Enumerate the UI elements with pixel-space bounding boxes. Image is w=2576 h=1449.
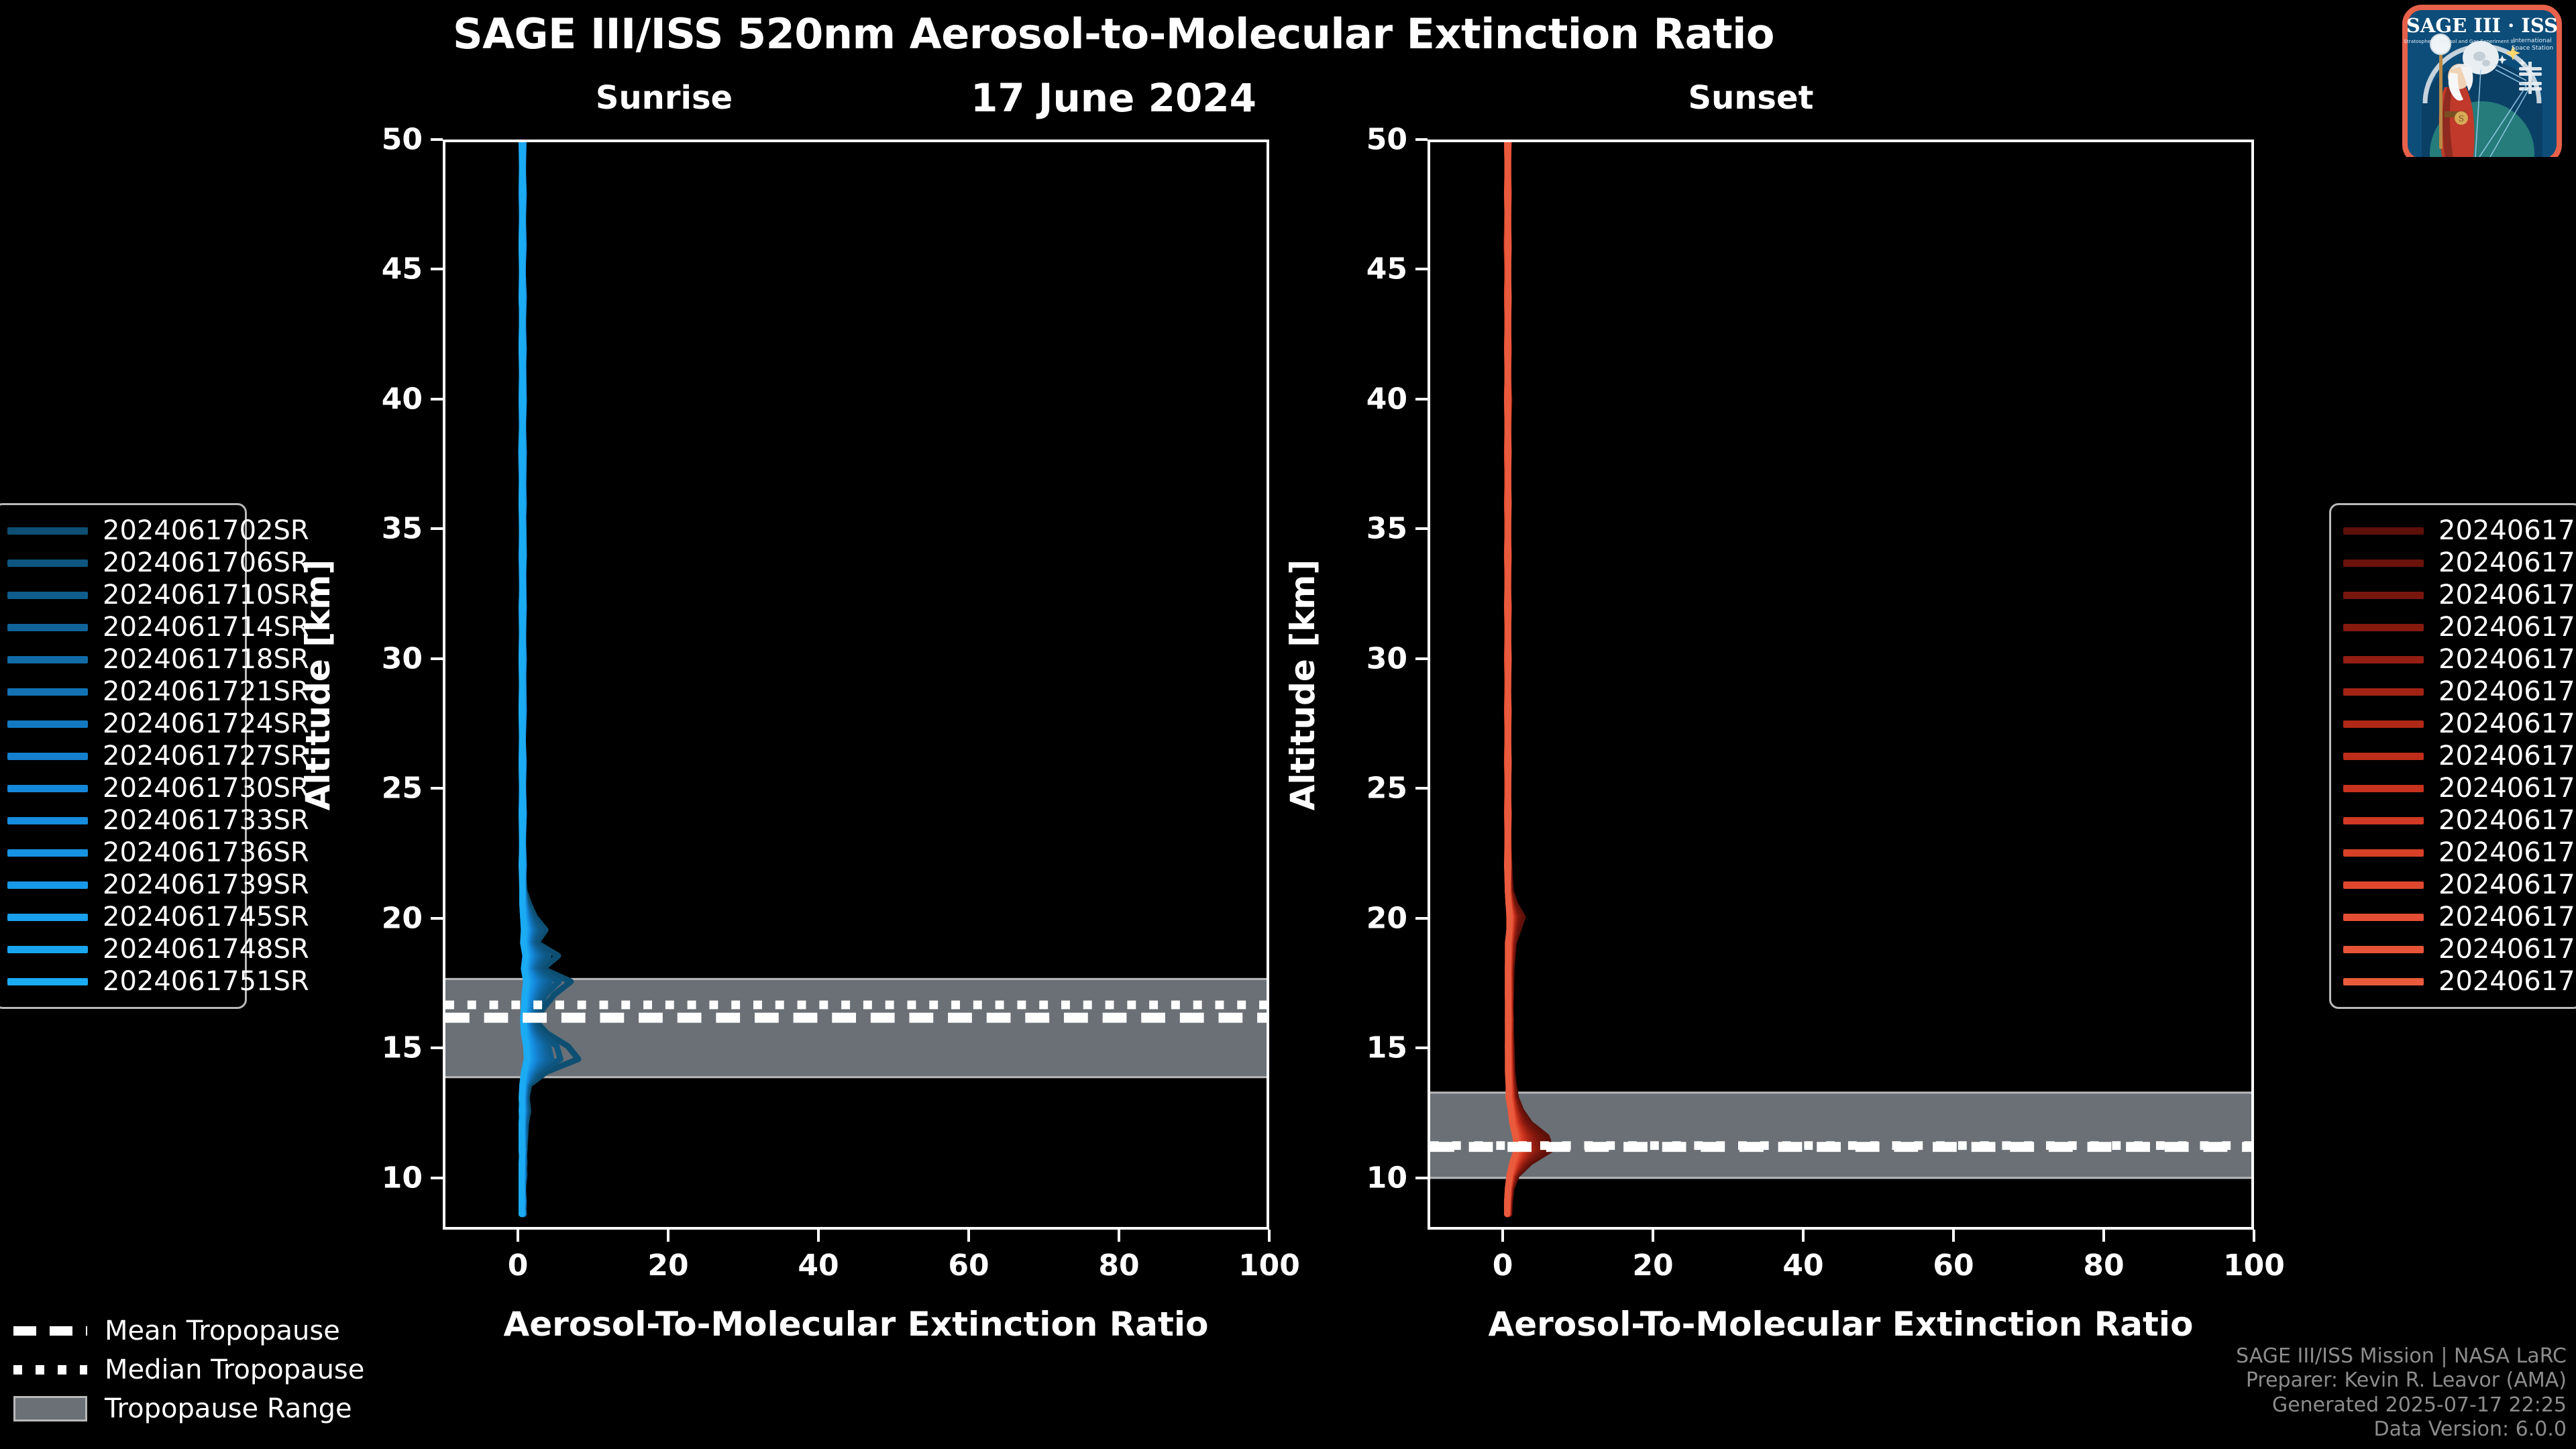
- patch-title: SAGE III · ISS: [2406, 14, 2558, 37]
- y-axis-tick-label: 35: [1327, 512, 1407, 546]
- y-axis-tick-label: 10: [342, 1161, 423, 1195]
- x-axis-tick-mark: [1501, 1230, 1504, 1242]
- credits-block: SAGE III/ISS Mission | NASA LaRC Prepare…: [2236, 1344, 2567, 1442]
- sunset-panel-title: Sunset: [1529, 79, 1972, 117]
- legend-item-label: 2024061716SS: [2438, 612, 2576, 643]
- x-axis-title: Aerosol-To-Molecular Extinction Ratio: [443, 1305, 1269, 1344]
- y-axis-tick-label: 30: [1327, 641, 1407, 676]
- x-axis-tick-label: 80: [2083, 1248, 2124, 1283]
- y-axis-tick-mark: [1415, 527, 1428, 530]
- y-axis-tick-label: 10: [1327, 1161, 1407, 1195]
- y-axis-tick-label: 15: [342, 1031, 423, 1065]
- legend-color-swatch: [2343, 559, 2424, 567]
- y-axis-tick-mark: [1415, 1046, 1428, 1049]
- x-axis-tick-label: 0: [508, 1248, 529, 1283]
- legend-item-label: 2024061751SR: [103, 966, 309, 997]
- legend-item[interactable]: 2024061732SS: [2343, 772, 2569, 804]
- x-axis-tick-mark: [1952, 1230, 1955, 1242]
- x-axis-tick-label: 80: [1098, 1248, 1139, 1283]
- y-axis-tick-mark: [431, 527, 443, 530]
- credits-line-version: Data Version: 6.0.0: [2236, 1417, 2567, 1442]
- legend-item[interactable]: 2024061750SS: [2343, 965, 2569, 998]
- legend-item[interactable]: 2024061733SR: [7, 804, 233, 837]
- legend-color-swatch: [2343, 753, 2424, 760]
- tropopause-range-band: [1430, 1093, 2251, 1178]
- legend-item[interactable]: 2024061730SR: [7, 772, 233, 804]
- legend-color-swatch: [2343, 978, 2424, 985]
- legend-item[interactable]: 2024061706SR: [7, 547, 233, 579]
- x-axis-tick-label: 20: [1632, 1248, 1673, 1283]
- y-axis-tick-mark: [1415, 657, 1428, 660]
- legend-item-label: 2024061736SR: [103, 837, 309, 868]
- sunrise-plot-canvas: [445, 142, 1267, 1227]
- y-axis-tick-mark: [1415, 787, 1428, 790]
- y-axis-tick-mark: [1415, 268, 1428, 270]
- sunrise-legend: 2024061702SR2024061706SR2024061710SR2024…: [0, 503, 247, 1009]
- x-axis-tick-label: 0: [1493, 1248, 1513, 1283]
- legend-item-label: 2024061726SS: [2438, 708, 2576, 739]
- y-axis-tick-mark: [1415, 398, 1428, 400]
- legend-color-swatch: [7, 881, 88, 889]
- legend-color-swatch: [2343, 688, 2424, 696]
- legend-color-swatch: [7, 914, 88, 921]
- tropopause-legend: Mean Tropopause Median Tropopause Tropop…: [13, 1311, 376, 1428]
- legend-item[interactable]: 2024061702SR: [7, 515, 233, 547]
- legend-color-swatch: [2343, 946, 2424, 953]
- legend-item-label: 2024061747SS: [2438, 934, 2576, 965]
- patch-subtitle-left: Stratospheric Aerosol and Gas Experiment…: [2404, 38, 2515, 44]
- legend-item-label: 2024061708SS: [2438, 547, 2576, 578]
- legend-item-label: 2024061727SR: [103, 741, 309, 771]
- legend-item[interactable]: 2024061729SS: [2343, 740, 2569, 772]
- y-axis-tick-mark: [431, 657, 443, 660]
- y-axis-tick-mark: [431, 268, 443, 270]
- legend-color-swatch: [7, 527, 88, 535]
- x-axis-tick-mark: [2253, 1230, 2255, 1242]
- legend-item-label: 2024061730SR: [103, 773, 309, 804]
- y-axis-tick-mark: [1415, 1177, 1428, 1179]
- x-axis-tick-mark: [517, 1230, 519, 1242]
- x-axis-tick-mark: [2102, 1230, 2105, 1242]
- legend-color-swatch: [2343, 785, 2424, 792]
- page-title: SAGE III/ISS 520nm Aerosol-to-Molecular …: [0, 9, 2227, 58]
- legend-item-label: 2024061704SS: [2438, 515, 2576, 546]
- legend-item-label: 2024061729SS: [2438, 741, 2576, 771]
- legend-item[interactable]: 2024061708SS: [2343, 547, 2569, 579]
- y-axis-tick-mark: [431, 398, 443, 400]
- legend-item[interactable]: 2024061726SS: [2343, 708, 2569, 740]
- y-axis-tick-mark: [431, 917, 443, 920]
- legend-item[interactable]: 2024061739SR: [7, 869, 233, 901]
- sunset-plot-area: [1428, 140, 2254, 1230]
- legend-item[interactable]: 2024061716SS: [2343, 611, 2569, 643]
- sunset-plot-canvas: [1430, 142, 2251, 1227]
- legend-item-label: 2024061723SS: [2438, 676, 2576, 707]
- y-axis-tick-label: 20: [1327, 901, 1407, 935]
- legend-item[interactable]: 2024061744SS: [2343, 901, 2569, 933]
- legend-color-swatch: [7, 624, 88, 631]
- legend-item[interactable]: 2024061747SS: [2343, 933, 2569, 965]
- legend-item-label: 2024061741SS: [2438, 869, 2576, 900]
- x-axis-tick-mark: [1268, 1230, 1271, 1242]
- legend-item[interactable]: 2024061721SR: [7, 676, 233, 708]
- tropopause-mean-key: Mean Tropopause: [13, 1311, 376, 1350]
- legend-item-label: 2024061738SS: [2438, 837, 2576, 868]
- y-axis-tick-mark: [431, 138, 443, 141]
- legend-item[interactable]: 2024061745SR: [7, 901, 233, 933]
- legend-item[interactable]: 2024061727SR: [7, 740, 233, 772]
- legend-item[interactable]: 2024061712SS: [2343, 579, 2569, 611]
- legend-item-label: 2024061706SR: [103, 547, 309, 578]
- tropopause-range-label: Tropopause Range: [105, 1393, 352, 1424]
- x-axis-tick-mark: [1118, 1230, 1120, 1242]
- tropopause-median-label: Median Tropopause: [105, 1354, 364, 1385]
- legend-item-label: 2024061748SR: [103, 934, 309, 965]
- x-axis-tick-label: 40: [1782, 1248, 1823, 1283]
- x-axis-tick-mark: [817, 1230, 820, 1242]
- legend-item-label: 2024061714SR: [103, 612, 309, 643]
- legend-color-swatch: [2343, 881, 2424, 889]
- legend-color-swatch: [7, 978, 88, 985]
- legend-item[interactable]: 2024061714SR: [7, 611, 233, 643]
- y-axis-tick-label: 45: [1327, 252, 1407, 286]
- y-axis-tick-label: 40: [342, 382, 423, 416]
- legend-item[interactable]: 2024061735SS: [2343, 804, 2569, 837]
- legend-item[interactable]: 2024061736SR: [7, 837, 233, 869]
- legend-item-label: 2024061702SR: [103, 515, 309, 546]
- y-axis-tick-label: 25: [1327, 771, 1407, 806]
- legend-color-swatch: [7, 559, 88, 567]
- credits-line-mission: SAGE III/ISS Mission | NASA LaRC: [2236, 1344, 2567, 1369]
- legend-color-swatch: [7, 849, 88, 857]
- shaded-band-icon: [13, 1396, 87, 1421]
- legend-color-swatch: [2343, 849, 2424, 857]
- legend-item-label: 2024061733SR: [103, 805, 309, 836]
- patch-subtitle-right-1: International: [2513, 38, 2551, 44]
- legend-item-label: 2024061718SR: [103, 644, 309, 675]
- legend-color-swatch: [2343, 914, 2424, 921]
- y-axis-tick-mark: [431, 1177, 443, 1179]
- legend-item-label: 2024061744SS: [2438, 902, 2576, 932]
- legend-item[interactable]: 2024061704SS: [2343, 515, 2569, 547]
- legend-item-label: 2024061710SR: [103, 580, 309, 610]
- legend-item[interactable]: 2024061723SS: [2343, 676, 2569, 708]
- y-axis-tick-label: 25: [342, 771, 423, 806]
- legend-color-swatch: [2343, 817, 2424, 824]
- x-axis-tick-label: 100: [1238, 1248, 1300, 1283]
- legend-item-label: 2024061732SS: [2438, 773, 2576, 804]
- y-axis-tick-label: 15: [1327, 1031, 1407, 1065]
- legend-color-swatch: [7, 946, 88, 953]
- y-axis-tick-label: 50: [1327, 123, 1407, 157]
- tropopause-mean-label: Mean Tropopause: [105, 1316, 340, 1346]
- legend-color-swatch: [7, 753, 88, 760]
- legend-color-swatch: [7, 656, 88, 663]
- credits-line-preparer: Preparer: Kevin R. Leavor (AMA): [2236, 1368, 2567, 1393]
- credits-line-generated: Generated 2025-07-17 22:25: [2236, 1393, 2567, 1418]
- y-axis-tick-label: 30: [342, 641, 423, 676]
- legend-color-swatch: [7, 688, 88, 696]
- dashed-line-icon: [13, 1326, 87, 1336]
- x-axis-tick-label: 60: [948, 1248, 989, 1283]
- legend-item-label: 2024061739SR: [103, 869, 309, 900]
- y-axis-tick-mark: [431, 1046, 443, 1049]
- legend-color-swatch: [7, 592, 88, 599]
- legend-item[interactable]: 2024061741SS: [2343, 869, 2569, 901]
- y-axis-tick-label: 45: [342, 252, 423, 286]
- patch-subtitle-right-2: Space Station: [2512, 45, 2553, 52]
- sunset-legend: 2024061704SS2024061708SS2024061712SS2024…: [2329, 503, 2576, 1009]
- legend-item-label: 2024061721SR: [103, 676, 309, 707]
- x-axis-tick-mark: [1652, 1230, 1654, 1242]
- legend-item[interactable]: 2024061738SS: [2343, 837, 2569, 869]
- legend-item-label: 2024061720SS: [2438, 644, 2576, 675]
- y-axis-tick-label: 40: [1327, 382, 1407, 416]
- y-axis-tick-label: 35: [342, 512, 423, 546]
- legend-item-label: 2024061735SS: [2438, 805, 2576, 836]
- y-axis-tick-label: 50: [342, 123, 423, 157]
- x-axis-tick-mark: [667, 1230, 669, 1242]
- legend-color-swatch: [2343, 656, 2424, 663]
- legend-color-swatch: [2343, 592, 2424, 599]
- y-axis-tick-mark: [431, 787, 443, 790]
- legend-color-swatch: [2343, 720, 2424, 728]
- legend-item[interactable]: 2024061710SR: [7, 579, 233, 611]
- legend-item[interactable]: 2024061751SR: [7, 965, 233, 998]
- legend-item-label: 2024061750SS: [2438, 966, 2576, 997]
- sunrise-panel-title: Sunrise: [443, 79, 885, 117]
- x-axis-tick-label: 40: [798, 1248, 839, 1283]
- legend-color-swatch: [7, 785, 88, 792]
- legend-color-swatch: [2343, 624, 2424, 631]
- dotted-line-icon: [13, 1365, 87, 1375]
- x-axis-tick-label: 100: [2223, 1248, 2285, 1283]
- sage-iii-iss-mission-patch-icon: S SAGE III · ISS Stratospheric Aerosol a…: [2395, 3, 2569, 157]
- legend-item[interactable]: 2024061720SS: [2343, 643, 2569, 676]
- legend-color-swatch: [7, 720, 88, 728]
- y-axis-tick-label: 20: [342, 901, 423, 935]
- legend-item-label: 2024061712SS: [2438, 580, 2576, 610]
- tropopause-range-key: Tropopause Range: [13, 1389, 376, 1428]
- legend-item[interactable]: 2024061748SR: [7, 933, 233, 965]
- x-axis-tick-label: 20: [647, 1248, 688, 1283]
- legend-item[interactable]: 2024061718SR: [7, 643, 233, 676]
- y-axis-tick-mark: [1415, 138, 1428, 141]
- x-axis-title: Aerosol-To-Molecular Extinction Ratio: [1428, 1305, 2254, 1344]
- legend-color-swatch: [2343, 527, 2424, 535]
- legend-item-label: 2024061724SR: [103, 708, 309, 739]
- svg-text:S: S: [2459, 114, 2464, 123]
- x-axis-tick-mark: [1802, 1230, 1805, 1242]
- sunrise-plot-area: [443, 140, 1269, 1230]
- legend-item-label: 2024061745SR: [103, 902, 309, 932]
- y-axis-tick-mark: [1415, 917, 1428, 920]
- x-axis-tick-mark: [967, 1230, 970, 1242]
- x-axis-tick-label: 60: [1933, 1248, 1974, 1283]
- tropopause-median-key: Median Tropopause: [13, 1350, 376, 1389]
- y-axis-title: Altitude [km]: [1283, 433, 1322, 685]
- legend-item[interactable]: 2024061724SR: [7, 708, 233, 740]
- legend-color-swatch: [7, 817, 88, 824]
